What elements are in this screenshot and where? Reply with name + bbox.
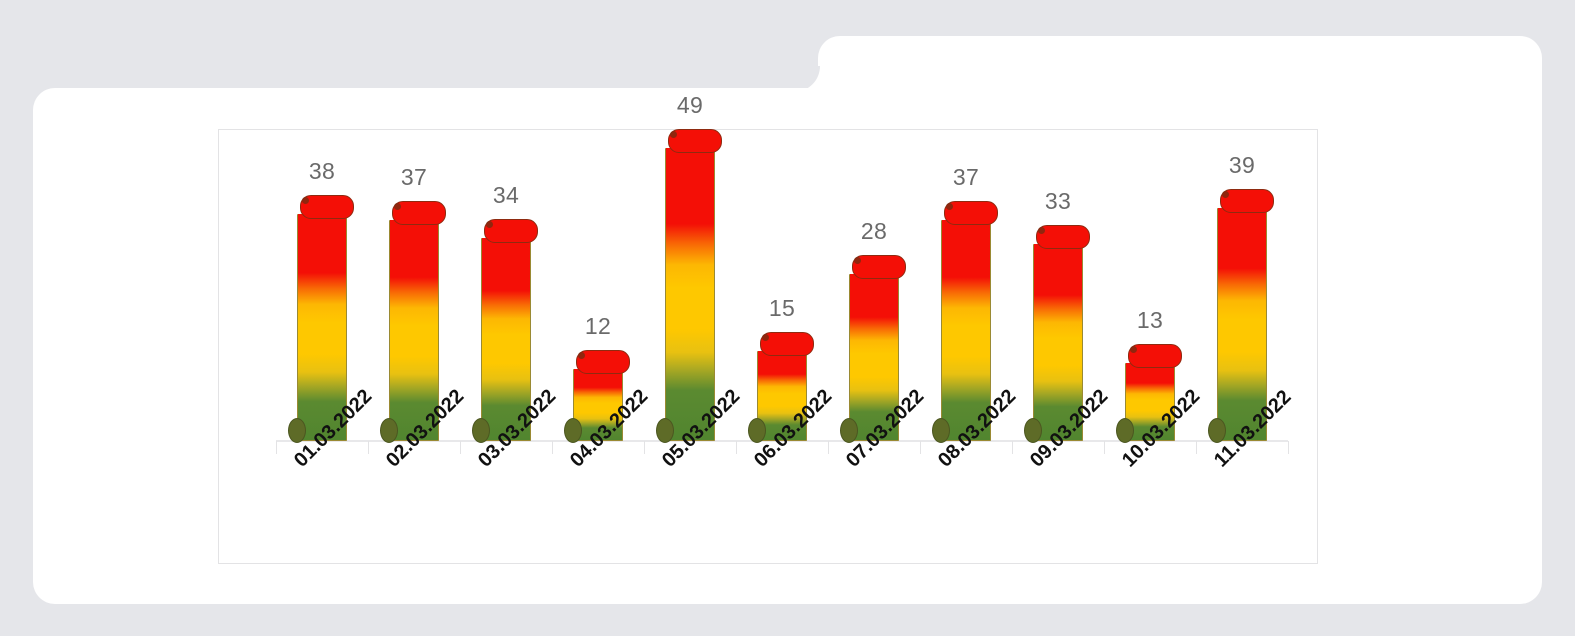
bar-slot (297, 130, 347, 441)
bar-slot (1033, 130, 1083, 441)
bar-slot (1217, 130, 1267, 441)
bar-cap-bottom (932, 418, 950, 443)
bar-cap-top (392, 201, 446, 225)
page-root: 3837341249152837331339 01.03.202202.03.2… (0, 0, 1575, 636)
x-axis-tick (920, 441, 921, 454)
bar-series-container (276, 130, 1288, 441)
x-axis-tick (552, 441, 553, 454)
bar-value-label: 49 (644, 92, 736, 119)
bar-cap-bottom (656, 418, 674, 443)
bar-slot (941, 130, 991, 441)
x-axis-tick (1196, 441, 1197, 454)
x-axis-tick (460, 441, 461, 454)
bar-body (665, 148, 715, 441)
bar-slot (573, 130, 623, 441)
bar-cap-top (1220, 189, 1274, 213)
bar-cap-bottom (472, 418, 490, 443)
bar-cap-top (760, 332, 814, 356)
bar-cap-top (300, 195, 354, 219)
bar-slot (1125, 130, 1175, 441)
bar[interactable] (665, 148, 715, 441)
x-axis-tick (1012, 441, 1013, 454)
x-axis-tick (276, 441, 277, 454)
bar-cap-bottom (748, 418, 766, 443)
bar-cap-bottom (1116, 418, 1134, 443)
x-axis-tick (736, 441, 737, 454)
card-tab-join (818, 88, 1542, 128)
bar-cap-bottom (840, 418, 858, 443)
bar-cap-bottom (380, 418, 398, 443)
bar-cap-bottom (564, 418, 582, 443)
chart-frame: 3837341249152837331339 01.03.202202.03.2… (218, 129, 1318, 564)
bar-cap-top (484, 219, 538, 243)
x-axis-tick (368, 441, 369, 454)
bar-cap-bottom (288, 418, 306, 443)
bar-slot (849, 130, 899, 441)
x-axis-tick (1104, 441, 1105, 454)
bar-slot (389, 130, 439, 441)
bar-cap-top (576, 350, 630, 374)
bar-cap-top (1128, 344, 1182, 368)
bar-cap-bottom (1024, 418, 1042, 443)
bar-cap-top (852, 255, 906, 279)
bar-cap-top (1036, 225, 1090, 249)
x-axis-labels: 01.03.202202.03.202203.03.202204.03.2022… (276, 456, 1288, 561)
x-axis-tick (1288, 441, 1289, 454)
bar-slot (665, 130, 715, 441)
x-axis-tick (644, 441, 645, 454)
bar-cap-bottom (1208, 418, 1226, 443)
bar-slot (757, 130, 807, 441)
bar-slot (481, 130, 531, 441)
bar-cap-top (944, 201, 998, 225)
bar-cap-top (668, 129, 722, 153)
x-axis-tick (828, 441, 829, 454)
